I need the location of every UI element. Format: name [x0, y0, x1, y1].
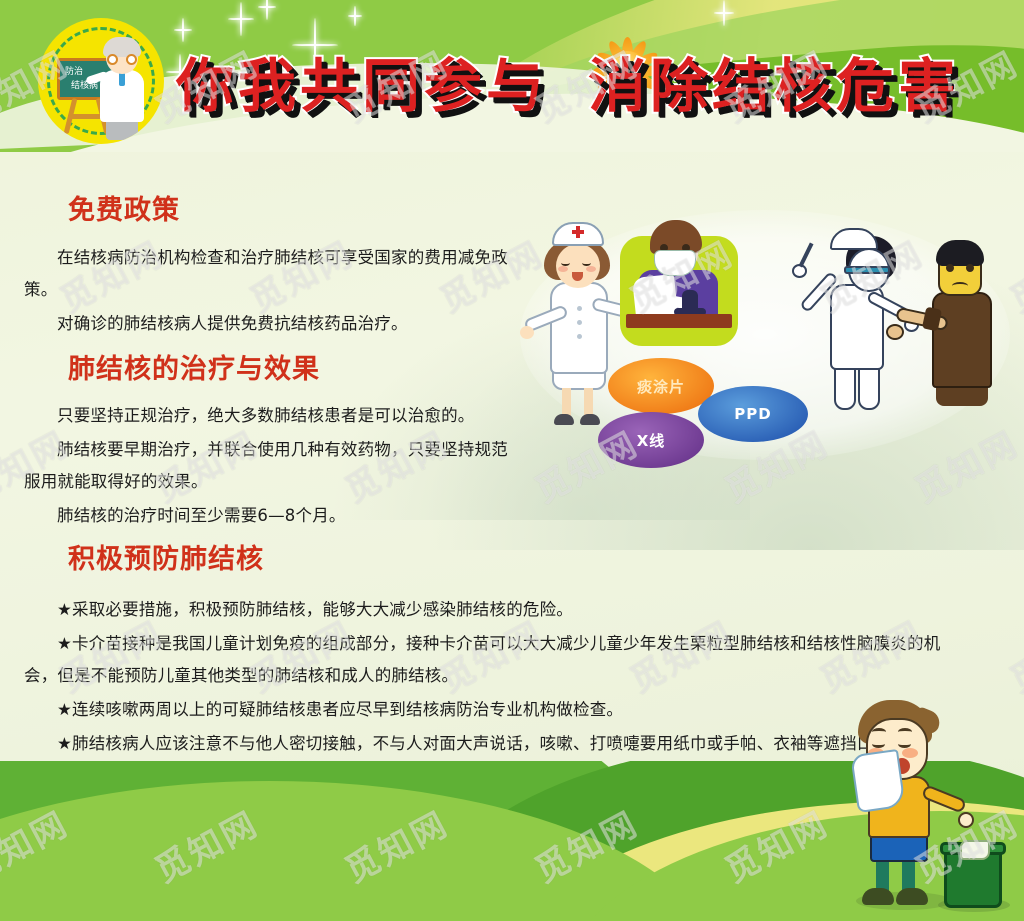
section-1-paragraph-1: 在结核病防治机构检查和治疗肺结核可享受国家的费用减免政策。 — [24, 242, 514, 306]
section-heading-prevention: 积极预防肺结核 — [68, 546, 264, 573]
section-2-paragraph-1: 只要坚持正规治疗，绝大多数肺结核患者是可以治愈的。 — [24, 400, 524, 432]
coughing-boy-illustration — [840, 700, 1000, 910]
section-2-paragraph-3: 肺结核的治疗时间至少需要6—8个月。 — [24, 500, 524, 532]
section-3-paragraph-1: ★采取必要措施，积极预防肺结核，能够大大减少感染肺结核的危险。 — [24, 594, 964, 626]
label-sputum-smear: 痰涂片 — [608, 358, 714, 414]
badge-board-line1: 防治 — [65, 66, 83, 77]
section-3-paragraph-3: ★连续咳嗽两周以上的可疑肺结核患者应尽早到结核病防治专业机构做检查。 — [24, 694, 964, 726]
tb-prevention-badge: 防治 结核病 — [38, 18, 164, 144]
badge-doctor-tie — [119, 72, 125, 86]
poster-header-banner: 防治 结核病 你我共同参与 消除结核危害 — [0, 0, 1024, 152]
title-part-1: 你我共同参与 — [176, 57, 548, 115]
label-xray: X线 — [598, 412, 704, 468]
section-2-paragraph-2: 肺结核要早期治疗，并联合使用几种有效药物，只要坚持规范服用就能取得好的效果。 — [24, 434, 514, 498]
title-part-2: 消除结核危害 — [588, 57, 960, 115]
section-3-paragraph-4: ★肺结核病人应该注意不与他人密切接触，不与人对面大声说话，咳嗽、打喷嚏要用纸巾或… — [24, 728, 964, 760]
section-3-paragraph-2: ★卡介苗接种是我国儿童计划免疫的组成部分，接种卡介苗可以大大减少儿童少年发生栗粒… — [24, 628, 964, 692]
nurse-character — [536, 222, 626, 432]
patient-character — [920, 240, 1006, 410]
section-1-paragraph-2: 对确诊的肺结核病人提供免费抗结核药品治疗。 — [24, 308, 514, 340]
tb-health-education-poster: 防治 结核病 你我共同参与 消除结核危害 免费政策 在结核病防治机构检 — [0, 0, 1024, 921]
badge-doctor-glasses-icon — [107, 54, 137, 65]
poster-title: 你我共同参与 消除结核危害 — [176, 44, 996, 128]
microscopy-doctor-panel — [620, 236, 738, 346]
label-ppd: PPD — [698, 386, 808, 442]
tissue-icon — [850, 749, 906, 813]
tb-diagnosis-illustration: 痰涂片 X线 PPD — [520, 200, 1010, 480]
section-heading-free-policy: 免费政策 — [68, 197, 180, 224]
section-heading-treatment: 肺结核的治疗与效果 — [68, 356, 320, 383]
